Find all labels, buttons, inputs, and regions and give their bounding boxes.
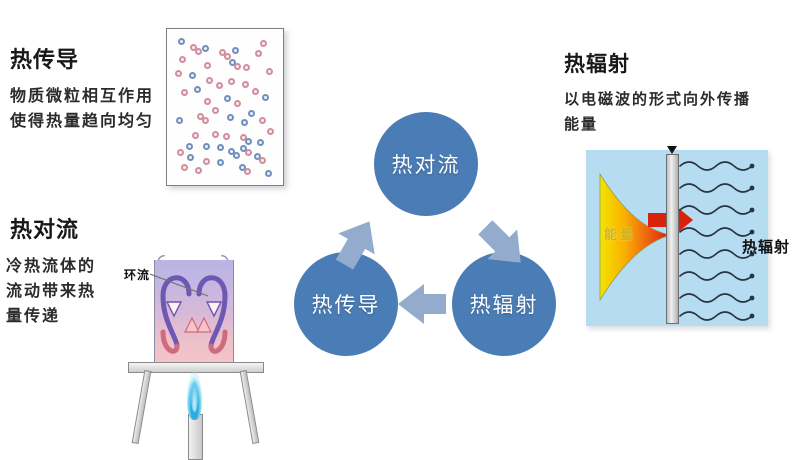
particle-dot (204, 62, 211, 69)
particle-dot (202, 45, 209, 52)
particle-dot (259, 157, 266, 164)
particle-dot (217, 159, 224, 166)
particle-dot (245, 138, 252, 145)
cycle-circle-convection-label: 热对流 (392, 149, 461, 179)
particle-dot (203, 158, 210, 165)
tripod-leg-left (132, 370, 152, 444)
radiation-panel-label: 热辐射 (742, 236, 790, 257)
particle-dot (189, 72, 196, 79)
cycle-circle-convection[interactable]: 热对流 (374, 112, 478, 216)
particle-dot (255, 50, 262, 57)
particle-dot (227, 114, 234, 121)
particle-dot (192, 132, 199, 139)
radiation-description: 以电磁波的形式向外传播 能量 (564, 88, 751, 138)
convection-description-line-1: 冷热流体的 (6, 254, 96, 279)
flame-core-icon (191, 382, 198, 412)
radiation-heading: 热辐射 (564, 48, 630, 78)
particle-dot (181, 164, 188, 171)
particle-dot (206, 77, 213, 84)
particle-dot (204, 98, 211, 105)
huanliu-leader-line (150, 272, 212, 298)
conduction-description-line-2: 使得热量趋向均匀 (10, 109, 154, 134)
particle-dot (252, 88, 259, 95)
particle-dot (179, 56, 186, 63)
particle-dot (244, 168, 251, 175)
particle-dot (203, 143, 210, 150)
particle-dot (234, 100, 241, 107)
plate-top-arrow-icon (667, 146, 677, 154)
particle-dot (242, 81, 249, 88)
cycle-circle-radiation-label: 热辐射 (470, 289, 539, 319)
particle-dot (176, 117, 183, 124)
particle-dot (187, 154, 194, 161)
particle-dot (224, 95, 231, 102)
particle-dot (228, 78, 235, 85)
radiation-description-line-2: 能量 (564, 113, 751, 138)
arrow-conduction-to-convection (326, 212, 388, 274)
convection-heading: 热对流 (10, 212, 79, 244)
particle-dot (178, 38, 185, 45)
particle-dot (267, 128, 274, 135)
particle-dot (248, 110, 255, 117)
particle-dot (241, 119, 248, 126)
particle-dot (259, 117, 266, 124)
particle-dot (181, 89, 188, 96)
radiation-panel-diagram: 能量 (586, 150, 768, 326)
particle-dot (233, 152, 240, 159)
particle-dot (216, 82, 223, 89)
particle-dot (202, 117, 209, 124)
huanliu-label: 环流 (124, 266, 150, 283)
particle-dot (266, 68, 273, 75)
particle-dot (195, 167, 202, 174)
convection-description-line-2: 流动带来热 (6, 279, 96, 304)
radiation-description-line-1: 以电磁波的形式向外传播 (564, 88, 751, 113)
convection-description-line-3: 量传递 (6, 304, 96, 329)
energy-label: 能量 (604, 224, 636, 243)
particle-dot (260, 40, 267, 47)
tripod-leg-right (240, 370, 260, 444)
conduction-description: 物质微粒相互作用 使得热量趋向均匀 (10, 84, 154, 134)
arrow-radiation-to-conduction (390, 274, 454, 334)
particle-dot (217, 144, 224, 151)
conduction-description-line-1: 物质微粒相互作用 (10, 84, 154, 109)
arrow-convection-to-radiation (472, 214, 534, 276)
particle-dot (245, 149, 252, 156)
particle-box-diagram (166, 28, 284, 186)
particle-dot (257, 139, 264, 146)
particle-dot (234, 63, 241, 70)
particle-dot (262, 94, 269, 101)
particle-dot (212, 131, 219, 138)
particle-dot (177, 149, 184, 156)
particle-dot (223, 133, 230, 140)
particle-dot (232, 47, 239, 54)
particle-dot (243, 64, 250, 71)
convection-description: 冷热流体的 流动带来热 量传递 (6, 254, 96, 329)
burner-tube (188, 414, 203, 460)
particle-dot (212, 107, 219, 114)
cycle-circle-conduction-label: 热传导 (312, 289, 381, 319)
conduction-heading: 热传导 (10, 42, 79, 74)
particle-dot (194, 86, 201, 93)
particle-dot (175, 70, 182, 77)
particle-dot (195, 48, 202, 55)
particle-dot (265, 170, 272, 177)
particle-dot (186, 143, 193, 150)
